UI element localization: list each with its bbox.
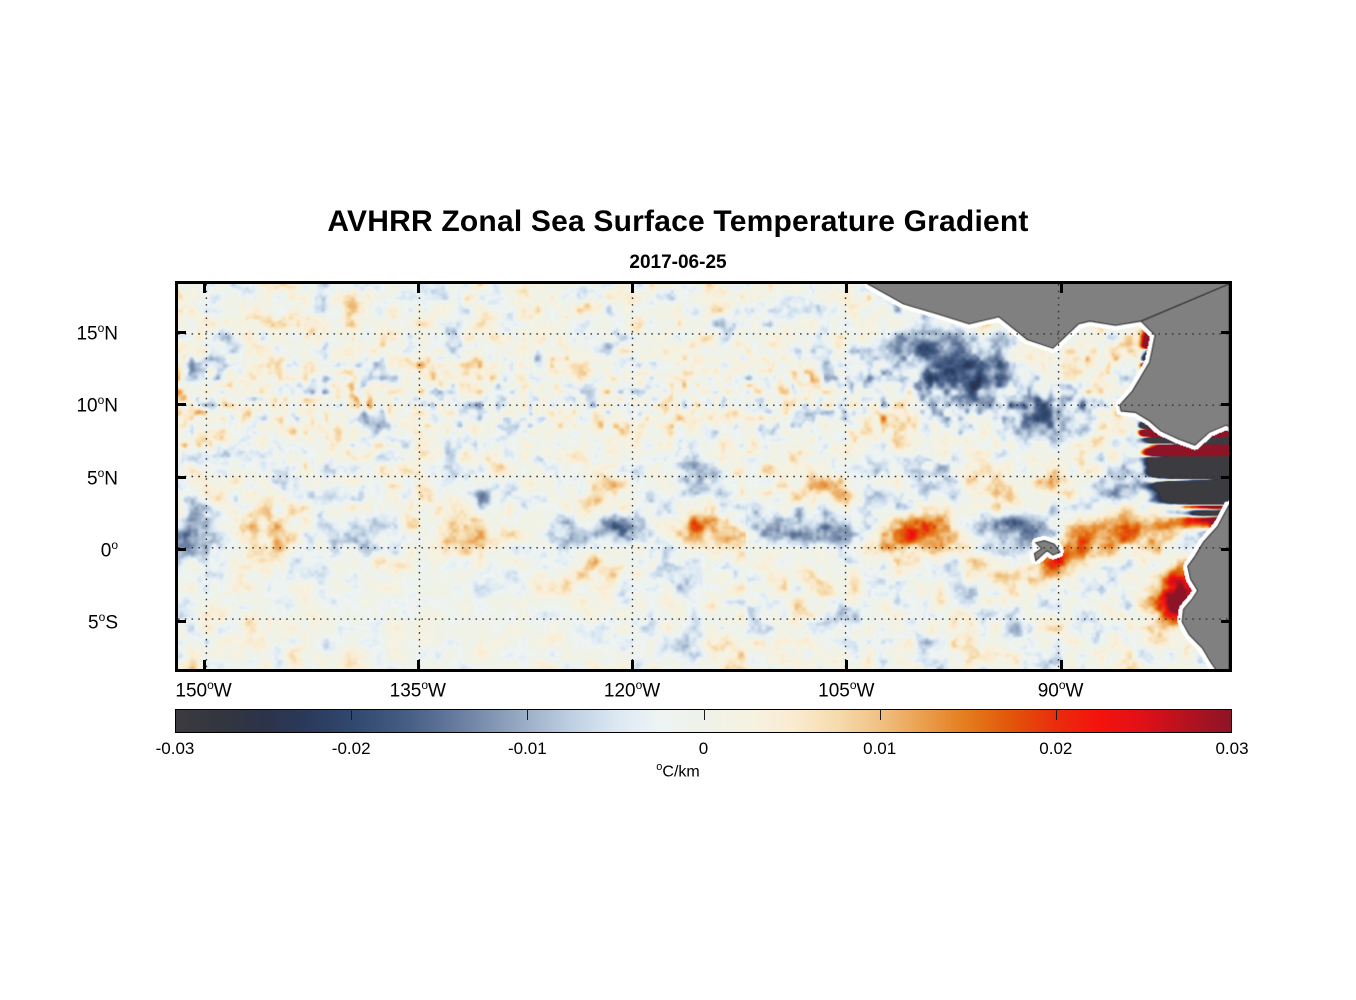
x-axis-tick-label: 120oW xyxy=(557,678,707,702)
y-axis-tick-label: 5oN xyxy=(0,466,118,490)
x-axis-tick-mark xyxy=(631,660,634,672)
y-axis-tick-mark xyxy=(175,476,186,479)
y-axis-tick-mark-right xyxy=(1221,620,1232,623)
y-axis-tick-label: 10oN xyxy=(0,393,118,417)
y-axis-tick-mark xyxy=(175,548,186,551)
x-axis-tick-mark xyxy=(1060,660,1063,672)
x-axis-tick-mark-top xyxy=(417,281,420,293)
colorbar-tick-label: -0.01 xyxy=(447,739,607,759)
colorbar-tick-mark xyxy=(880,709,881,720)
colorbar-tick-label: 0 xyxy=(624,739,784,759)
chart-subtitle: 2017-06-25 xyxy=(0,252,1356,274)
x-axis-tick-mark xyxy=(203,660,206,672)
figure-canvas: AVHRR Zonal Sea Surface Temperature Grad… xyxy=(0,0,1356,1000)
x-axis-tick-mark-top xyxy=(203,281,206,293)
x-axis-tick-mark-top xyxy=(631,281,634,293)
x-axis-tick-label: 150oW xyxy=(129,678,279,702)
y-axis-tick-mark-right xyxy=(1221,403,1232,406)
y-axis-tick-mark-right xyxy=(1221,548,1232,551)
x-axis-tick-mark xyxy=(845,660,848,672)
y-axis-tick-mark xyxy=(175,403,186,406)
x-axis-tick-mark xyxy=(417,660,420,672)
colorbar-tick-mark xyxy=(704,709,705,720)
y-axis-tick-label: 0o xyxy=(0,538,118,562)
x-axis-tick-mark-top xyxy=(845,281,848,293)
y-axis-tick-mark xyxy=(175,331,186,334)
colorbar-tick-label: 0.02 xyxy=(976,739,1136,759)
colorbar-tick-label: -0.02 xyxy=(271,739,431,759)
colorbar-tick-mark xyxy=(527,709,528,720)
y-axis-tick-mark-right xyxy=(1221,331,1232,334)
x-axis-tick-label: 135oW xyxy=(343,678,493,702)
y-axis-tick-mark-right xyxy=(1221,476,1232,479)
y-axis-tick-mark xyxy=(175,620,186,623)
colorbar-tick-label: -0.03 xyxy=(95,739,255,759)
y-axis-tick-label: 15oN xyxy=(0,321,118,345)
map-axes[interactable] xyxy=(175,281,1232,672)
x-axis-tick-label: 105oW xyxy=(771,678,921,702)
colorbar-tick-mark xyxy=(351,709,352,720)
colorbar-units-label: oC/km xyxy=(0,761,1356,781)
x-axis-tick-label: 90oW xyxy=(986,678,1136,702)
colorbar-tick-mark xyxy=(1056,709,1057,720)
x-axis-tick-mark-top xyxy=(1060,281,1063,293)
sst-gradient-heatmap xyxy=(178,284,1229,669)
colorbar-tick-label: 0.01 xyxy=(800,739,960,759)
chart-title: AVHRR Zonal Sea Surface Temperature Grad… xyxy=(0,205,1356,239)
colorbar-tick-label: 0.03 xyxy=(1152,739,1312,759)
y-axis-tick-label: 5oS xyxy=(0,610,118,634)
